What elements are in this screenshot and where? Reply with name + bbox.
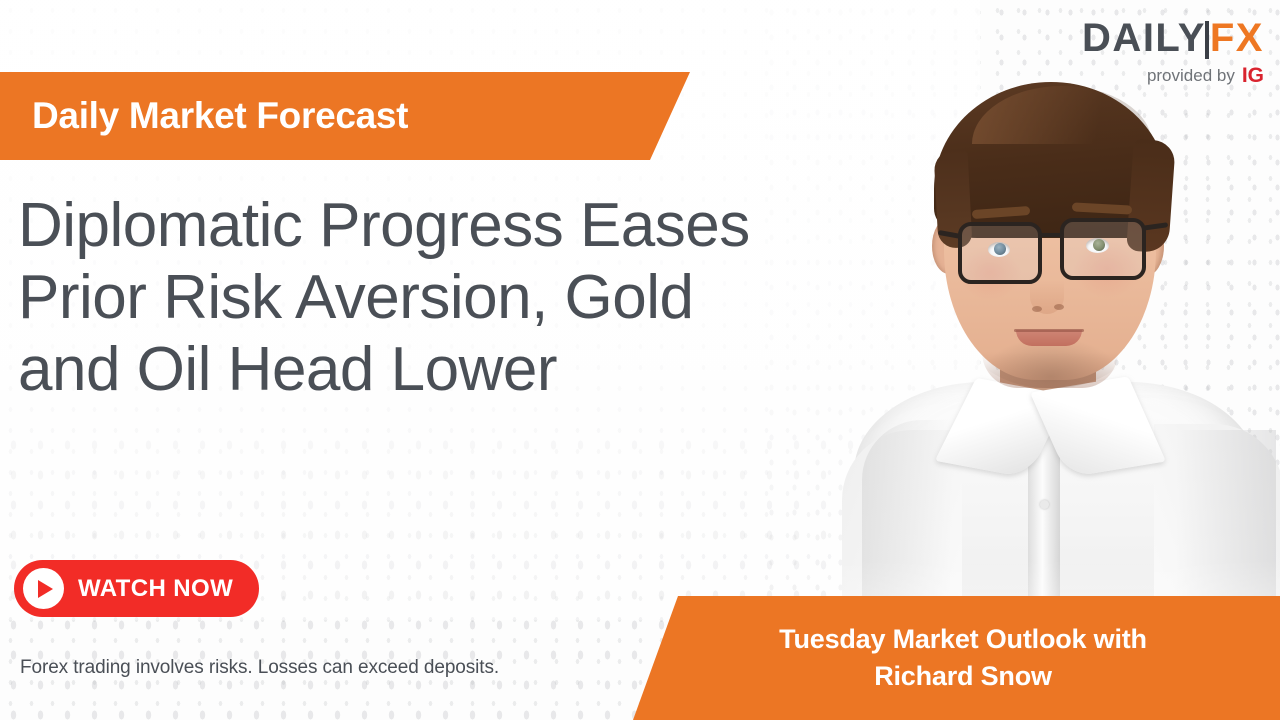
mouth <box>1016 330 1082 346</box>
logo-daily-text: DAILY <box>1082 18 1206 58</box>
presenter-banner: Tuesday Market Outlook with Richard Snow <box>600 596 1280 720</box>
nostril-left <box>1032 306 1042 312</box>
logo-provider: provided by IG <box>1082 65 1264 86</box>
play-triangle <box>38 580 53 598</box>
category-banner-label: Daily Market Forecast <box>32 95 408 137</box>
chin-shadow <box>982 352 1118 388</box>
category-banner: Daily Market Forecast <box>0 72 700 160</box>
logo-fx-text: FX <box>1210 18 1264 58</box>
play-icon <box>23 568 64 609</box>
headline: Diplomatic Progress Eases Prior Risk Ave… <box>18 190 958 406</box>
watch-now-label: WATCH NOW <box>78 575 233 603</box>
headline-line-1: Diplomatic Progress Eases <box>18 190 958 262</box>
presenter-banner-line-1: Tuesday Market Outlook with <box>779 621 1147 658</box>
glasses-lens-right <box>1060 218 1146 280</box>
provided-by-text: provided by <box>1147 67 1235 84</box>
headline-line-2: Prior Risk Aversion, Gold <box>18 262 958 334</box>
logo-wordmark: DAILY FX <box>1082 18 1264 58</box>
ig-logo-text: IG <box>1242 65 1264 86</box>
lip-line <box>1014 329 1084 332</box>
presenter-banner-line-2: Richard Snow <box>874 658 1052 695</box>
glasses-lens-left <box>958 222 1042 284</box>
logo-candlestick-icon <box>1205 21 1209 59</box>
glasses-bridge <box>1041 233 1062 237</box>
nostril-right <box>1054 304 1064 310</box>
headline-line-3: and Oil Head Lower <box>18 334 958 406</box>
dailyfx-logo: DAILY FX provided by IG <box>1082 18 1264 86</box>
watch-now-button[interactable]: WATCH NOW <box>14 560 259 617</box>
video-thumbnail: DAILY FX provided by IG Daily Market For… <box>0 0 1280 720</box>
risk-disclaimer: Forex trading involves risks. Losses can… <box>20 657 499 679</box>
shirt-button <box>1040 500 1049 509</box>
